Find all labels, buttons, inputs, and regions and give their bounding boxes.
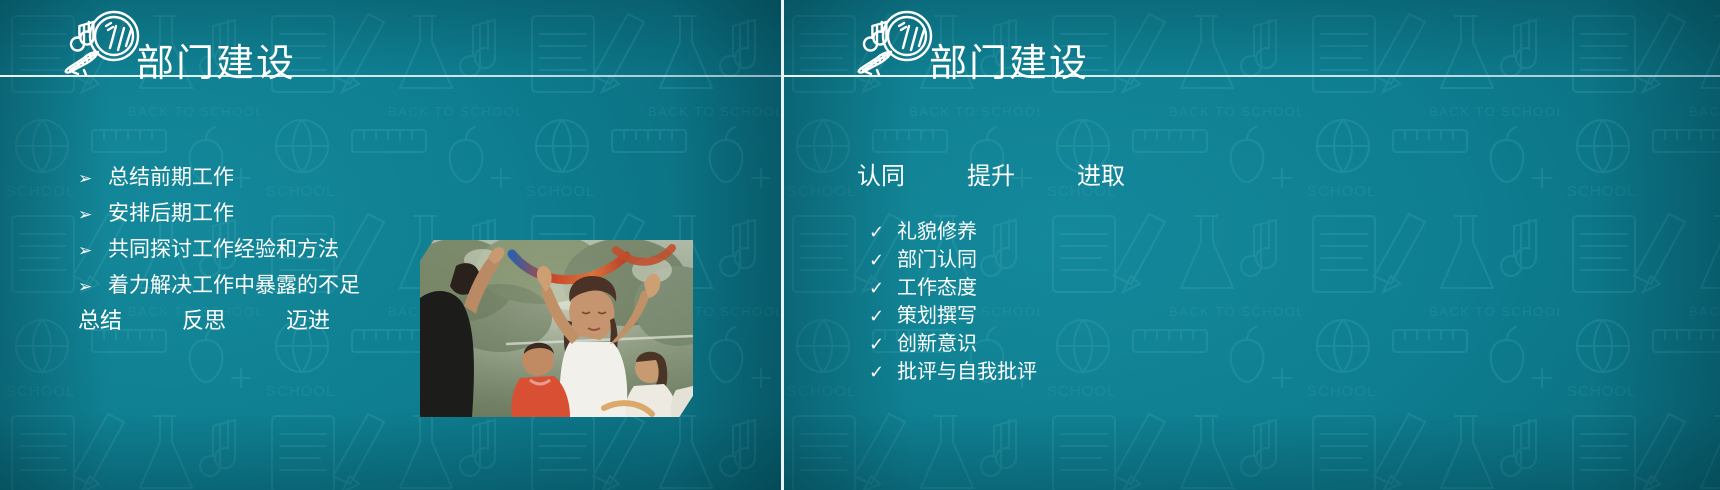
check-icon: ✓ — [869, 220, 885, 245]
checklist: ✓ 礼貌修养 ✓ 部门认同 ✓ 工作态度 ✓ 策划撰写 ✓ 创新意识 — [869, 220, 1037, 388]
list-item: ➢ 安排后期工作 — [78, 200, 418, 229]
list-item: ➢ 着力解决工作中暴露的不足 — [78, 272, 418, 301]
list-item-label: 礼貌修养 — [897, 220, 977, 245]
check-icon: ✓ — [869, 276, 885, 301]
check-icon: ✓ — [869, 360, 885, 385]
list-item-label: 工作态度 — [897, 276, 977, 301]
list-item-label: 共同探讨工作经验和方法 — [108, 236, 339, 264]
check-icon: ✓ — [869, 248, 885, 273]
slide-divider — [781, 0, 784, 490]
slide-header-right: 部门建设 — [781, 0, 1720, 76]
list-item-label: 着力解决工作中暴露的不足 — [108, 272, 360, 300]
keyword-row: 总结 反思 迈进 — [78, 306, 330, 336]
keyword-item: 进取 — [1077, 160, 1125, 194]
slide-content-left: ➢ 总结前期工作 ➢ 安排后期工作 ➢ 共同探讨工作经验和方法 ➢ 着力解决工作… — [0, 76, 781, 490]
arrow-bullet-icon: ➢ — [78, 201, 94, 229]
keyword-item: 反思 — [182, 306, 226, 336]
keyword-item: 总结 — [78, 306, 122, 336]
bullet-list: ➢ 总结前期工作 ➢ 安排后期工作 ➢ 共同探讨工作经验和方法 ➢ 着力解决工作… — [78, 164, 418, 308]
slide-left: BACK TO SCHOOL SCHOOL — [0, 0, 781, 490]
keyword-item: 认同 — [857, 160, 905, 194]
keyword-item: 迈进 — [286, 306, 330, 336]
list-item: ➢ 共同探讨工作经验和方法 — [78, 236, 418, 265]
list-item: ✓ 礼貌修养 — [869, 220, 1037, 245]
arrow-bullet-icon: ➢ — [78, 273, 94, 301]
keyword-item: 提升 — [967, 160, 1015, 194]
list-item: ✓ 创新意识 — [869, 332, 1037, 357]
arrow-bullet-icon: ➢ — [78, 237, 94, 265]
slide-header-left: 部门建设 — [0, 0, 781, 76]
slide-deck: BACK TO SCHOOL SCHOOL — [0, 0, 1720, 490]
list-item-label: 策划撰写 — [897, 304, 977, 329]
arrow-bullet-icon: ➢ — [78, 165, 94, 193]
list-item-label: 安排后期工作 — [108, 200, 234, 228]
list-item: ✓ 批评与自我批评 — [869, 360, 1037, 385]
list-item: ✓ 策划撰写 — [869, 304, 1037, 329]
keyword-row: 认同 提升 进取 — [857, 160, 1125, 194]
check-icon: ✓ — [869, 332, 885, 357]
list-item: ➢ 总结前期工作 — [78, 164, 418, 193]
slide-content-right: 认同 提升 进取 ✓ 礼貌修养 ✓ 部门认同 ✓ 工作态度 ✓ — [781, 76, 1720, 490]
list-item: ✓ 部门认同 — [869, 248, 1037, 273]
list-item-label: 部门认同 — [897, 248, 977, 273]
list-item-label: 批评与自我批评 — [897, 360, 1037, 385]
list-item: ✓ 工作态度 — [869, 276, 1037, 301]
list-item-label: 总结前期工作 — [108, 164, 234, 192]
students-playing-hoop-photo — [420, 240, 693, 417]
list-item-label: 创新意识 — [897, 332, 977, 357]
slide-right: BACK TO SCHOOL SCHOOL — [781, 0, 1720, 490]
check-icon: ✓ — [869, 304, 885, 329]
